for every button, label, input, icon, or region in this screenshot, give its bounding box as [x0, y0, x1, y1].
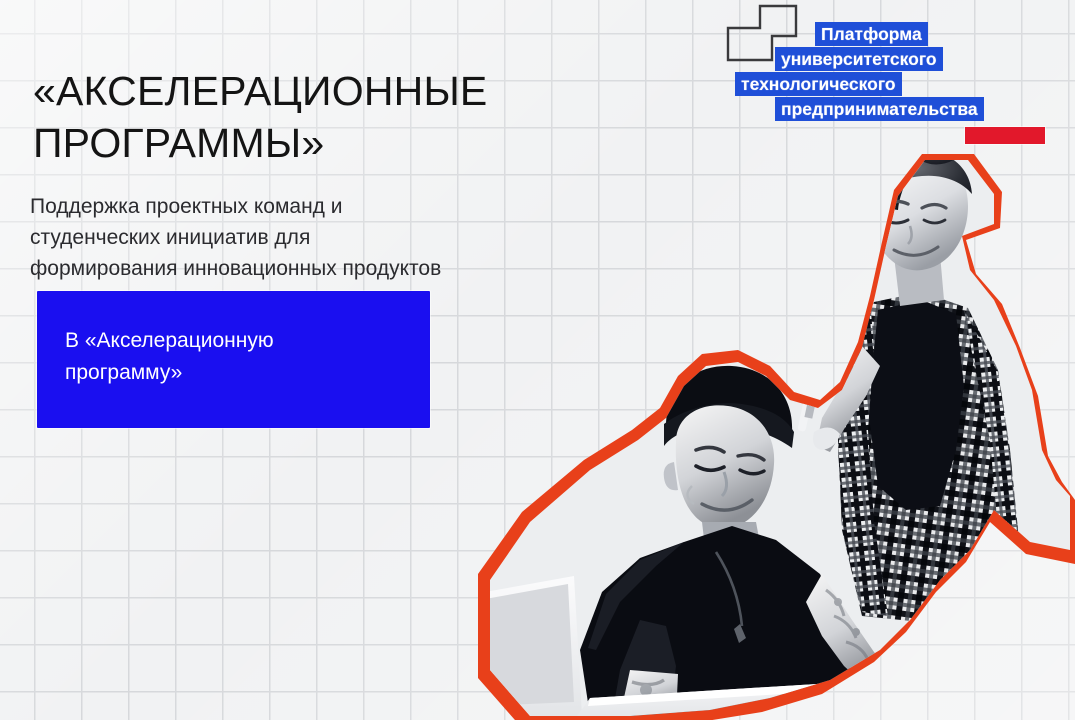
accelerator-program-button[interactable]: В «Акселерационную программу» [37, 291, 430, 428]
logo-line-3: технологического [735, 72, 902, 96]
platform-logo[interactable]: Платформа университетского технологическ… [722, 0, 1062, 150]
logo-line-4: предпринимательства [775, 97, 984, 121]
hero-photo: Чёрно-белое фото: молодой человек в шапк… [470, 150, 1075, 720]
hero-banner: «АКСЕЛЕРАЦИОННЫЕ ПРОГРАММЫ» Поддержка пр… [0, 0, 1075, 720]
svg-text:· · · · ·: · · · · · [872, 661, 914, 678]
logo-accent-bar [965, 127, 1045, 144]
hero-photo-illustration: · · · · · [470, 150, 1075, 720]
logo-line-2: университетского [775, 47, 943, 71]
accelerator-program-button-label: В «Акселерационную программу» [65, 325, 395, 389]
smartphone [878, 678, 972, 710]
logo-line-1: Платформа [815, 22, 928, 46]
photo-grayscale-cutout: · · · · · [470, 150, 1075, 720]
